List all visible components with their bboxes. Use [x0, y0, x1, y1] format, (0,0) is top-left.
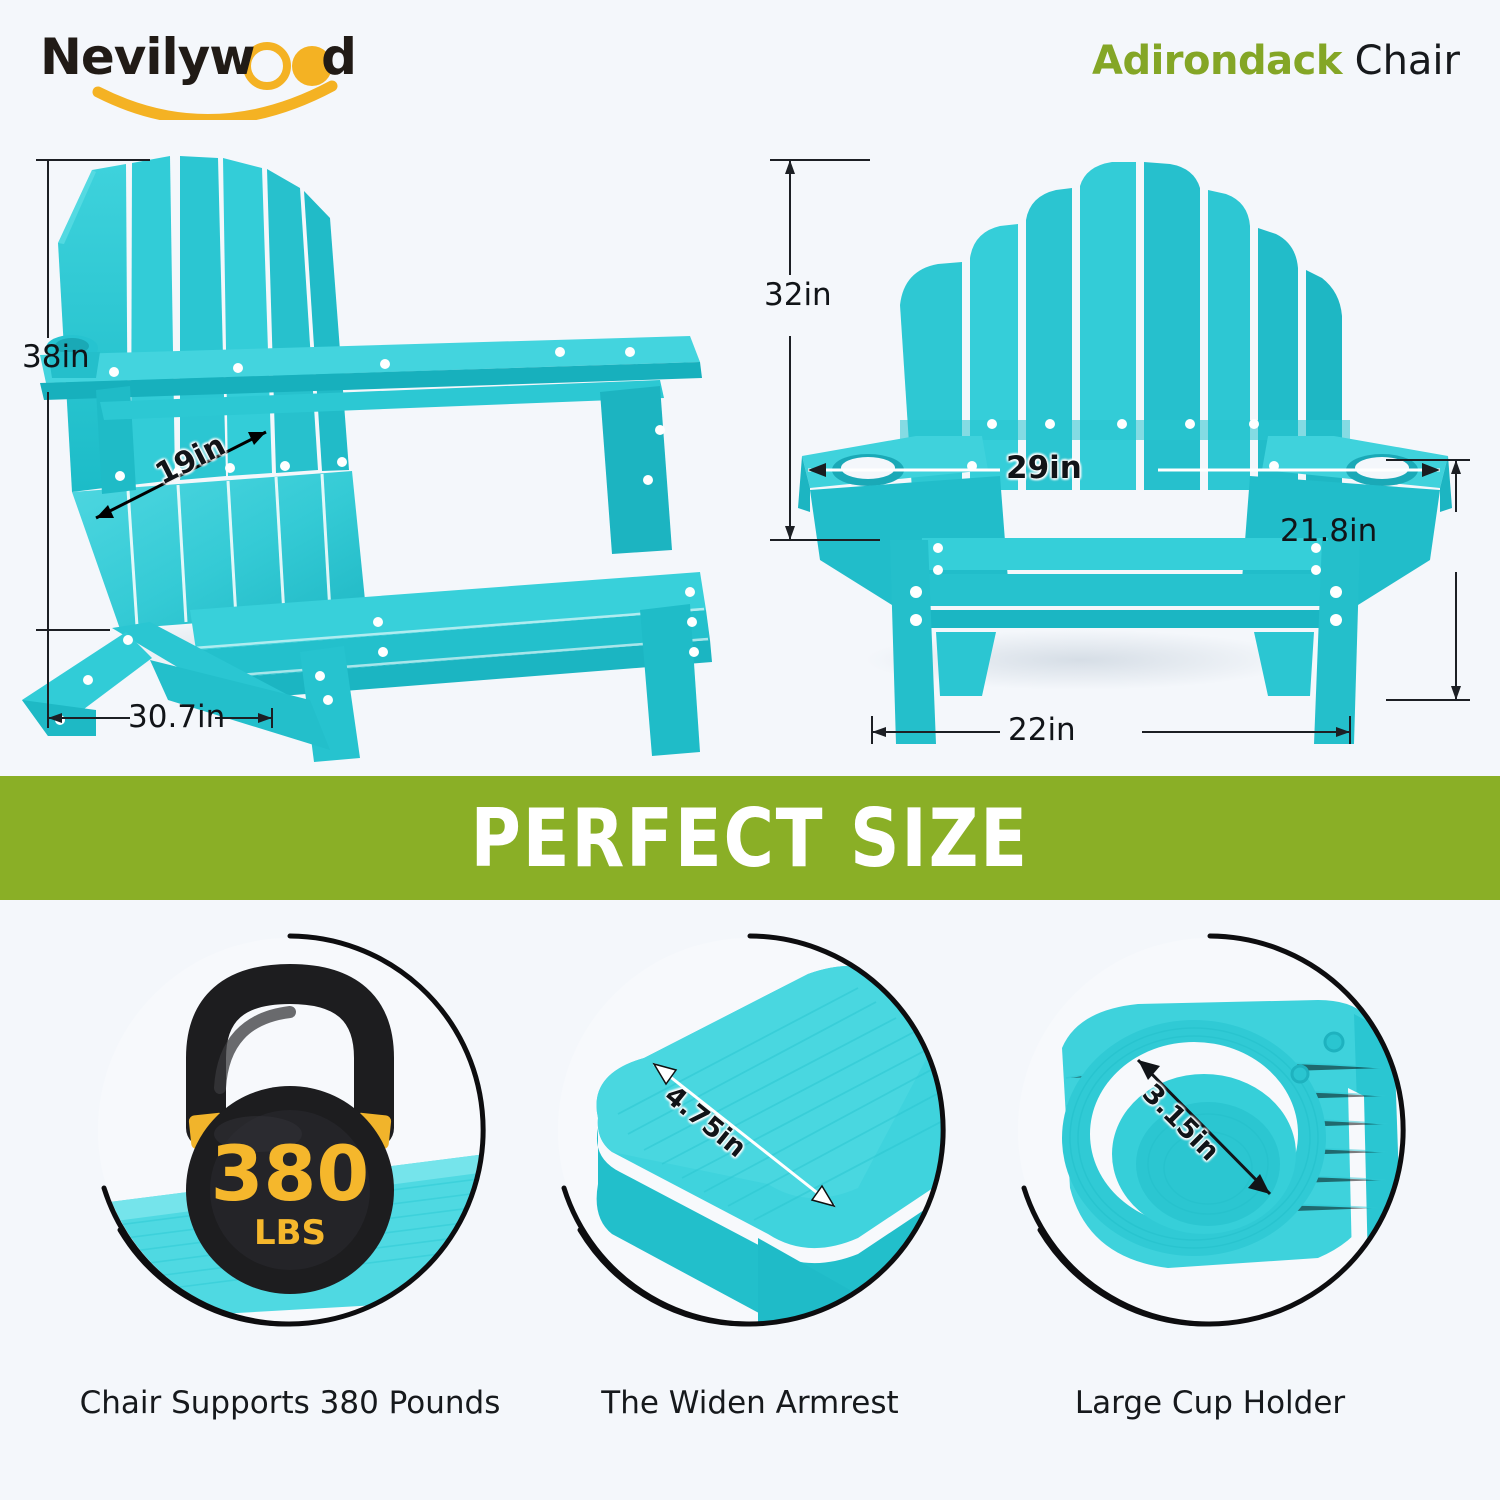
page-header: Nevilywood Adirondack Chair [0, 0, 1500, 140]
circle-ring-frame-icon [550, 930, 950, 1330]
logo-word-part1: Nevilyw [40, 28, 254, 86]
perfect-size-banner: PERFECT SIZE [0, 776, 1500, 900]
chair-front-view-illustration [750, 140, 1500, 770]
feature-cup-holder: 3.15in Large Cup Holder [980, 930, 1440, 1490]
brand-logo: Nevilywood [40, 28, 460, 120]
seat-front-board-1 [920, 538, 1330, 570]
feature-circle-frame-1: 380 LBS [90, 930, 490, 1330]
circle-ring-frame-icon [90, 930, 490, 1330]
banner-title: PERFECT SIZE [471, 792, 1029, 885]
feature-caption-3: Large Cup Holder [980, 1385, 1440, 1421]
logo-word-part2: d [321, 28, 356, 86]
dimension-label-back-height-32in: 32in [764, 277, 832, 313]
product-type-name: Chair [1342, 38, 1460, 84]
feature-weight-capacity: 380 LBS Chair Supports 380 Pounds [60, 930, 520, 1490]
product-line-name: Adirondack [1092, 38, 1342, 84]
logo-smile-icon [98, 86, 332, 120]
feature-caption-1: Chair Supports 380 Pounds [60, 1385, 520, 1421]
seat-front-board-2 [914, 574, 1336, 606]
logo-wordmark: Nevilywood [40, 28, 356, 86]
dimension-label-base-width-22in: 22in [1008, 712, 1076, 748]
rear-leg-right [1254, 632, 1314, 696]
dimension-diagrams: 38in 19in 30.7in [0, 140, 1500, 770]
feature-caption-2: The Widen Armrest [520, 1385, 980, 1421]
dimension-label-width-29in: 29in [1006, 450, 1082, 486]
feature-highlights: 380 LBS Chair Supports 380 Pounds [0, 900, 1500, 1500]
dimension-label-width-30in: 30.7in [128, 699, 225, 735]
front-leg-left [890, 540, 936, 744]
feature-circle-frame-3: 3.15in [1010, 930, 1410, 1330]
logo-word-oo: oo [254, 28, 321, 86]
chair-front-view-panel: 32in 29in 21.8in 22in [750, 140, 1500, 770]
front-arm-post [600, 386, 672, 554]
page-title: Adirondack Chair [1092, 38, 1460, 84]
dimension-label-height-38in: 38in [22, 339, 90, 375]
chair-side-view-panel: 38in 19in 30.7in [0, 140, 750, 770]
dimension-label-seat-height-21in: 21.8in [1280, 513, 1377, 549]
seat-front-board-3 [908, 610, 1342, 628]
chair-side-view-illustration [0, 140, 750, 770]
feature-widen-armrest: 4.75in The Widen Armrest [520, 930, 980, 1490]
feature-circle-frame-2: 4.75in [550, 930, 950, 1330]
